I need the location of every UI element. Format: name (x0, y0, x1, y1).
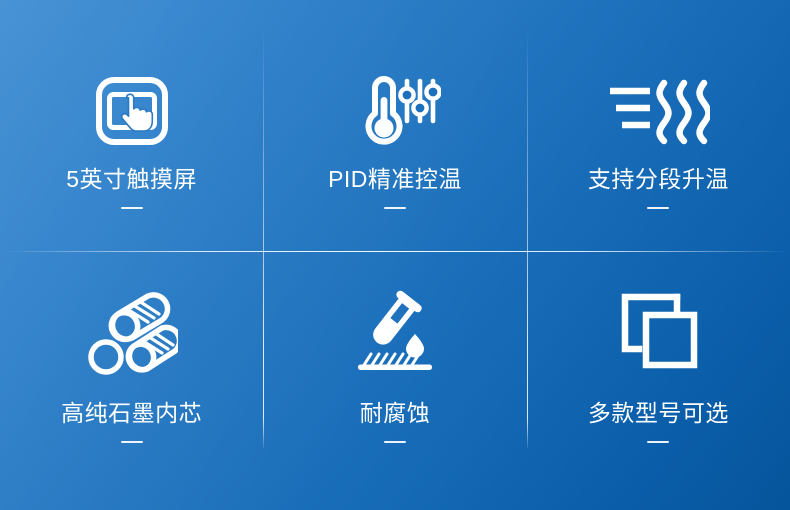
label-underline (384, 207, 406, 209)
label-underline (384, 441, 406, 443)
feature-label: 5英寸触摸屏 (66, 168, 197, 191)
touchscreen-hand-icon (95, 72, 169, 150)
feature-label: 支持分段升温 (588, 168, 729, 191)
label-underline (647, 207, 669, 209)
feature-panel: 5英寸触摸屏 (0, 0, 790, 510)
feature-grid: 5英寸触摸屏 (0, 0, 790, 510)
feature-label: PID精准控温 (328, 168, 462, 191)
test-tube-drop-icon (349, 284, 441, 380)
thermometer-sliders-icon (349, 72, 441, 150)
feature-label: 耐腐蚀 (360, 402, 431, 425)
feature-label: 多款型号可选 (588, 402, 729, 425)
feature-cell-corrosion-resistant[interactable]: 耐腐蚀 (263, 251, 526, 510)
heat-waves-icon (606, 72, 710, 150)
feature-label: 高纯石墨内芯 (61, 402, 202, 425)
feature-cell-model-options[interactable]: 多款型号可选 (527, 251, 790, 510)
feature-cell-stepped-heating[interactable]: 支持分段升温 (527, 0, 790, 251)
graphite-rods-icon (86, 284, 178, 380)
feature-cell-graphite-core[interactable]: 高纯石墨内芯 (0, 251, 263, 510)
label-underline (121, 441, 143, 443)
feature-cell-pid-control[interactable]: PID精准控温 (263, 0, 526, 251)
feature-cell-touchscreen[interactable]: 5英寸触摸屏 (0, 0, 263, 251)
label-underline (121, 207, 143, 209)
label-underline (647, 441, 669, 443)
overlapping-rectangles-icon (615, 284, 701, 380)
